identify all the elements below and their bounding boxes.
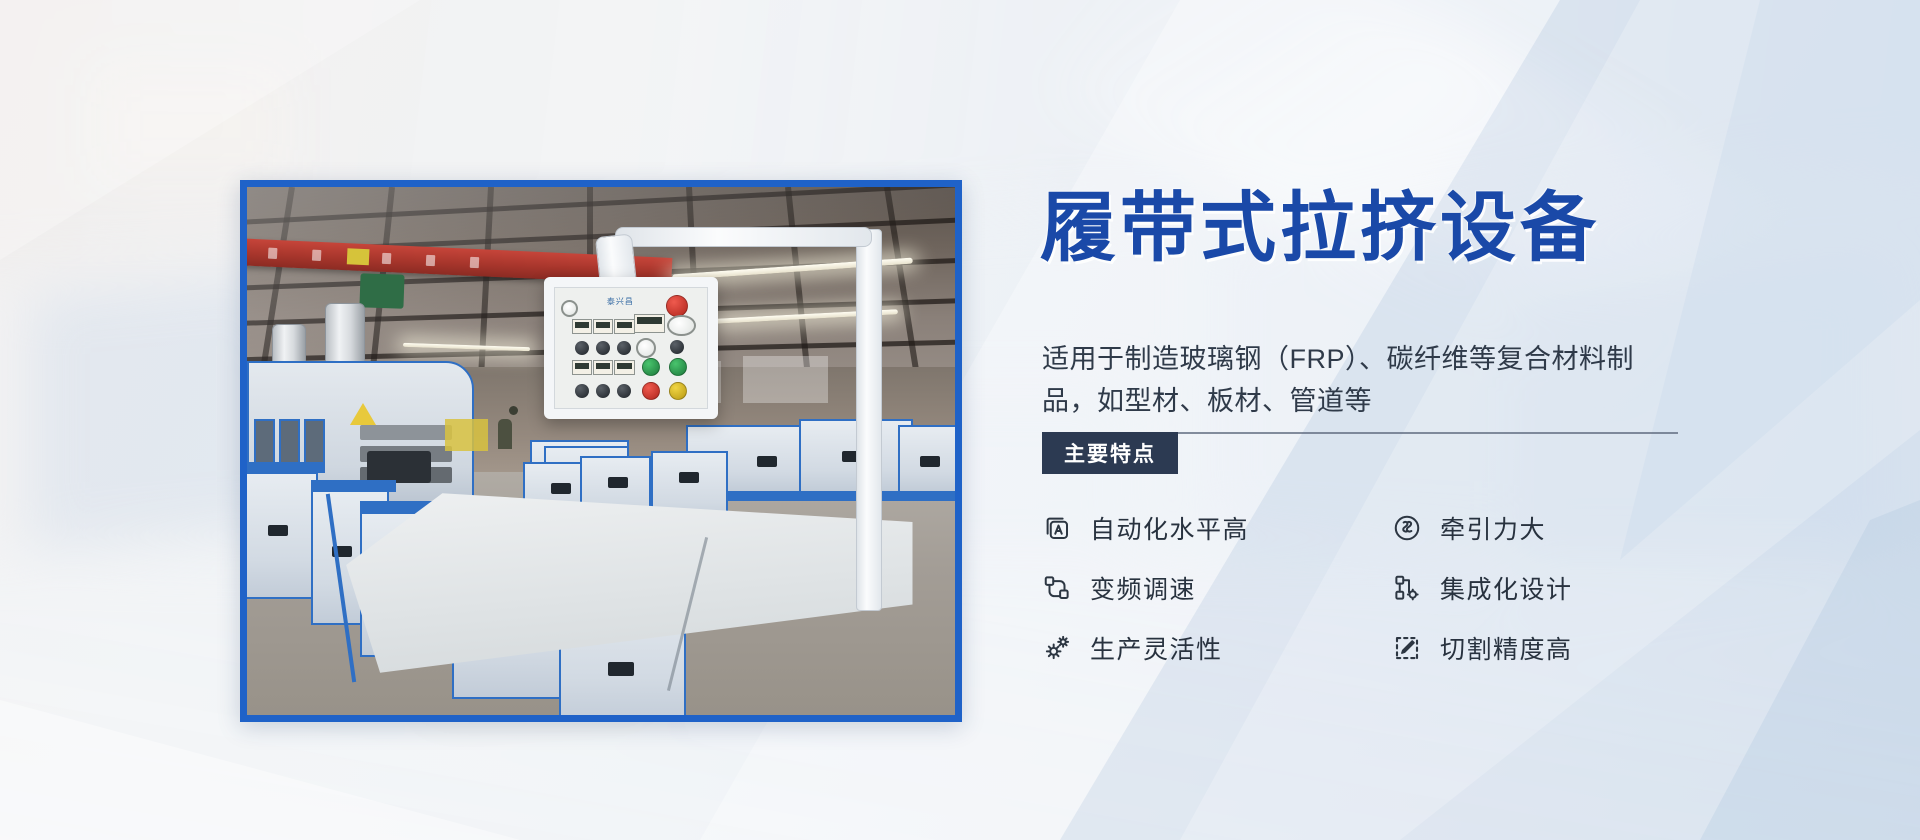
- page-title: 履带式拉挤设备: [1040, 186, 1600, 272]
- feature-item-cutting-precision[interactable]: 切割精度高: [1390, 630, 1573, 666]
- product-photo-card: 泰兴昌: [240, 180, 962, 722]
- gantry-arm: [615, 227, 872, 247]
- panel-brand-logo: 泰兴昌: [607, 296, 634, 307]
- traction-spiral-icon: [1390, 511, 1424, 545]
- feature-label: 集成化设计: [1440, 570, 1573, 606]
- letter-a-card-icon: [1040, 511, 1074, 545]
- feature-row: 自动化水平高 牵引力大: [1040, 498, 1840, 558]
- integration-gear-node-icon: [1390, 571, 1424, 605]
- feature-label: 切割精度高: [1440, 630, 1573, 666]
- precision-pen-icon: [1390, 631, 1424, 665]
- feature-row: 变频调速 集成化设计: [1040, 558, 1840, 618]
- crane-hoist: [360, 273, 405, 309]
- product-banner: 泰兴昌: [0, 0, 1920, 840]
- feature-label: 牵引力大: [1440, 510, 1546, 546]
- feature-item-traction[interactable]: 牵引力大: [1390, 510, 1546, 546]
- control-panel: 泰兴昌: [544, 277, 717, 420]
- feature-row: 生产灵活性 切割精度高: [1040, 618, 1840, 678]
- banner-content: 履带式拉挤设备 适用于制造玻璃钢（FRP）、碳纤维等复合材料制品，如型材、板材、…: [1040, 0, 1920, 840]
- feature-label: 自动化水平高: [1090, 510, 1249, 546]
- gears-icon: [1040, 631, 1074, 665]
- feature-item-frequency[interactable]: 变频调速: [1040, 570, 1380, 606]
- feature-item-flexibility[interactable]: 生产灵活性: [1040, 630, 1380, 666]
- feature-label: 生产灵活性: [1090, 630, 1223, 666]
- warning-triangle: [350, 403, 376, 425]
- feature-item-integration[interactable]: 集成化设计: [1390, 570, 1573, 606]
- product-description: 适用于制造玻璃钢（FRP）、碳纤维等复合材料制品，如型材、板材、管道等: [1042, 338, 1652, 422]
- feature-item-automation[interactable]: 自动化水平高: [1040, 510, 1380, 546]
- feature-list: 自动化水平高 牵引力大: [1040, 498, 1840, 678]
- frequency-nodes-icon: [1040, 571, 1074, 605]
- product-photo: 泰兴昌: [247, 187, 955, 715]
- status-badge: 主要特点: [1042, 432, 1178, 474]
- feature-label: 变频调速: [1090, 570, 1196, 606]
- gantry-post: [856, 229, 882, 611]
